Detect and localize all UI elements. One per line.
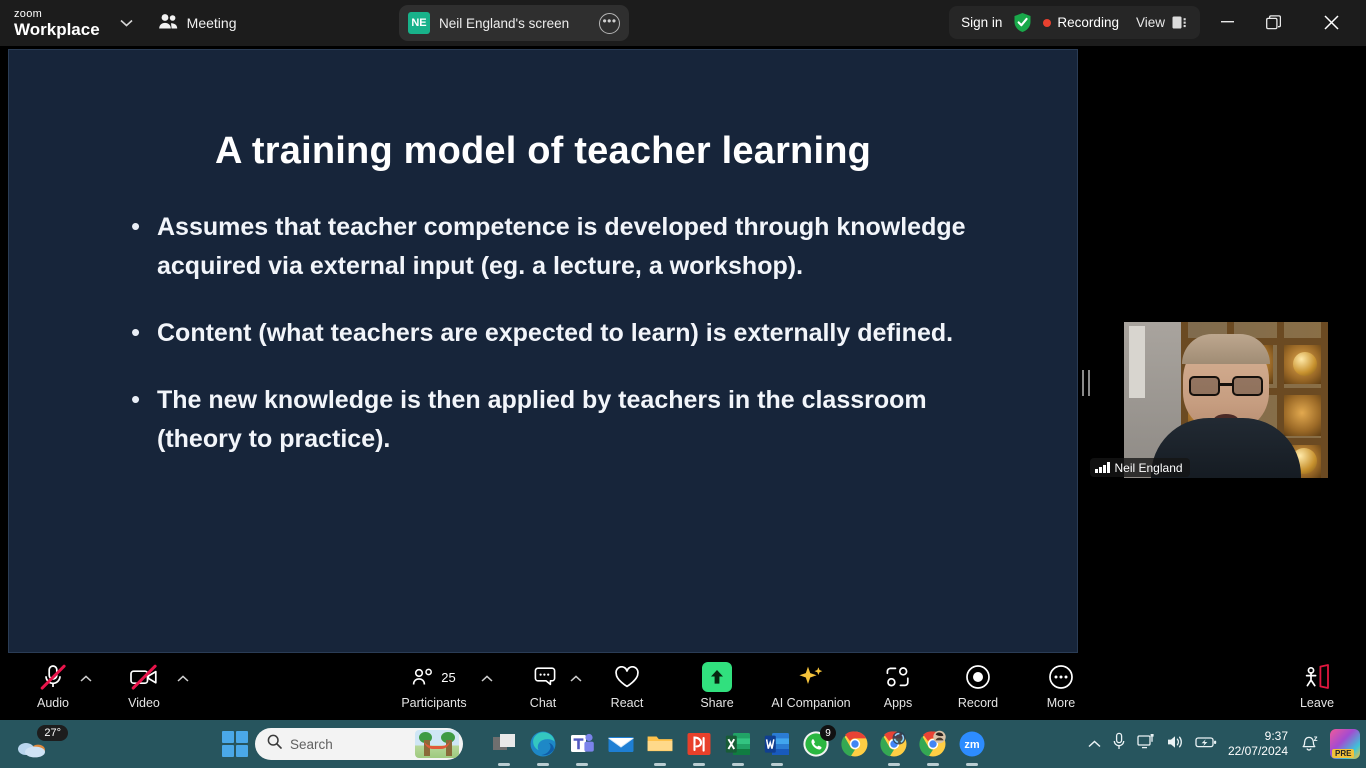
- participants-options-caret-icon[interactable]: [481, 674, 493, 685]
- recording-indicator[interactable]: Recording: [1043, 15, 1119, 30]
- svg-text:z: z: [1314, 734, 1318, 743]
- toolbar-record-label: Record: [958, 696, 998, 710]
- view-button[interactable]: View: [1136, 15, 1188, 30]
- people-icon: [158, 13, 179, 33]
- titlebar-right-group: Sign in Recording View: [949, 6, 1200, 39]
- toolbar-apps-label: Apps: [884, 696, 913, 710]
- minimize-button[interactable]: [1204, 0, 1250, 44]
- taskbar-app-icons: 9: [489, 720, 987, 768]
- camera-muted-icon: [130, 662, 158, 692]
- toolbar-react-label: React: [611, 696, 644, 710]
- toolbar-chat-label: Chat: [530, 696, 556, 710]
- participant-name: Neil England: [1115, 461, 1183, 475]
- search-icon: [267, 734, 282, 754]
- notification-dnd-icon[interactable]: z: [1299, 732, 1319, 757]
- view-label: View: [1136, 15, 1165, 30]
- slide-bullet-list: • Assumes that teacher competence is dev…: [131, 208, 1011, 487]
- toolbar-video-label: Video: [128, 696, 160, 710]
- zoom-icon[interactable]: zm: [957, 729, 987, 759]
- system-tray: 9:37 22/07/2024 z PRE: [1088, 720, 1360, 768]
- maximize-button[interactable]: [1250, 0, 1296, 44]
- bullet-text: Assumes that teacher competence is devel…: [157, 208, 1011, 286]
- logo-workplace-text: Workplace: [14, 21, 100, 38]
- chrome-loading-icon[interactable]: [879, 729, 909, 759]
- participant-video-tile[interactable]: [1124, 322, 1328, 478]
- chat-options-caret-icon[interactable]: [570, 674, 582, 685]
- toolbar-participants-button[interactable]: 25 Participants: [397, 662, 471, 710]
- recording-label: Recording: [1057, 15, 1119, 30]
- ai-sparkle-icon: [796, 662, 826, 692]
- toolbar-video-button[interactable]: Video: [107, 662, 181, 710]
- list-item: • The new knowledge is then applied by t…: [131, 381, 1011, 459]
- toolbar-chat-button[interactable]: Chat: [506, 662, 580, 710]
- file-explorer-icon[interactable]: [645, 729, 675, 759]
- share-screen-icon: [702, 662, 732, 692]
- logo-zoom-text: zoom: [14, 9, 100, 20]
- cloud-icon: [16, 741, 48, 758]
- toolbar-react-button[interactable]: React: [590, 662, 664, 710]
- layout-icon: [1172, 16, 1188, 29]
- toolbar-record-button[interactable]: Record: [941, 662, 1015, 710]
- mail-icon[interactable]: [606, 729, 636, 759]
- share-source-label: Neil England's screen: [439, 16, 590, 31]
- task-view-icon[interactable]: [489, 729, 519, 759]
- toolbar-participants-label: Participants: [401, 696, 466, 710]
- more-ellipsis-icon[interactable]: •••: [599, 13, 620, 34]
- word-icon[interactable]: [762, 729, 792, 759]
- zoom-toolbar: Audio Video: [0, 654, 1366, 720]
- whatsapp-icon[interactable]: 9: [801, 729, 831, 759]
- excel-icon[interactable]: [723, 729, 753, 759]
- toolbar-leave-label: Leave: [1300, 696, 1334, 710]
- zoom-title-bar: zoom Workplace Meeting NE Neil England's…: [0, 0, 1366, 46]
- bullet-dot-icon: •: [131, 381, 143, 459]
- svg-text:zm: zm: [964, 739, 980, 751]
- chat-bubble-icon: [530, 662, 556, 692]
- heart-icon: [614, 662, 640, 692]
- toolbar-ai-companion-label: AI Companion: [771, 696, 850, 710]
- shield-check-icon[interactable]: [1013, 12, 1032, 33]
- panel-resize-handle[interactable]: [1082, 370, 1090, 396]
- toolbar-leave-button[interactable]: Leave: [1280, 662, 1354, 710]
- weather-widget[interactable]: 27°: [8, 724, 72, 764]
- bullet-text: The new knowledge is then applied by tea…: [157, 381, 1011, 459]
- clock-time: 9:37: [1228, 729, 1288, 744]
- audio-options-caret-icon[interactable]: [80, 674, 92, 685]
- taskbar-clock[interactable]: 9:37 22/07/2024: [1228, 729, 1288, 759]
- network-icon[interactable]: [1137, 733, 1155, 755]
- toolbar-more-button[interactable]: More: [1024, 662, 1098, 710]
- weather-temperature: 27°: [37, 725, 68, 741]
- toolbar-audio-label: Audio: [37, 696, 69, 710]
- toolbar-apps-button[interactable]: Apps: [861, 662, 935, 710]
- meeting-tab-label: Meeting: [187, 15, 237, 31]
- bullet-dot-icon: •: [131, 314, 143, 353]
- microphone-icon[interactable]: [1112, 732, 1126, 756]
- toolbar-share-label: Share: [700, 696, 733, 710]
- search-placeholder: Search: [290, 737, 407, 752]
- toolbar-audio-button[interactable]: Audio: [16, 662, 90, 710]
- screen-share-indicator[interactable]: NE Neil England's screen •••: [399, 5, 629, 41]
- windows-taskbar: 27° Search: [0, 720, 1366, 768]
- leave-door-icon: [1302, 662, 1332, 692]
- participants-icon: 25: [412, 662, 455, 692]
- toolbar-share-button[interactable]: Share: [680, 662, 754, 710]
- search-input[interactable]: Search: [255, 728, 463, 760]
- clock-date: 22/07/2024: [1228, 744, 1288, 759]
- edge-icon[interactable]: [528, 729, 558, 759]
- battery-icon[interactable]: [1195, 735, 1217, 754]
- chrome-profile-icon[interactable]: [918, 729, 948, 759]
- bullet-text: Content (what teachers are expected to l…: [157, 314, 953, 353]
- list-item: • Assumes that teacher competence is dev…: [131, 208, 1011, 286]
- video-options-caret-icon[interactable]: [177, 674, 189, 685]
- notification-badge: 9: [820, 725, 836, 741]
- chrome-icon[interactable]: [840, 729, 870, 759]
- more-ellipsis-icon: [1048, 662, 1074, 692]
- teams-icon[interactable]: [567, 729, 597, 759]
- bullet-dot-icon: •: [131, 208, 143, 286]
- toolbar-more-label: More: [1047, 696, 1075, 710]
- signal-bars-icon: [1095, 462, 1110, 473]
- zoom-meeting-window: zoom Workplace Meeting NE Neil England's…: [0, 0, 1366, 768]
- windows-start-icon[interactable]: [221, 730, 249, 758]
- avatar: NE: [408, 12, 430, 34]
- pdf-app-icon[interactable]: [684, 729, 714, 759]
- zoom-workplace-logo: zoom Workplace: [14, 9, 100, 38]
- slide-title: A training model of teacher learning: [9, 130, 1077, 173]
- taskbar-center-group: Search: [221, 720, 463, 768]
- copilot-icon[interactable]: PRE: [1330, 729, 1360, 759]
- copilot-badge: PRE: [1332, 749, 1354, 758]
- chevron-up-icon[interactable]: [1088, 735, 1101, 753]
- hammock-trees-image: [415, 730, 459, 758]
- video-feed: [1124, 322, 1328, 478]
- chevron-down-icon[interactable]: [114, 10, 140, 36]
- volume-icon[interactable]: [1166, 734, 1184, 755]
- close-button[interactable]: [1308, 0, 1354, 44]
- meeting-tab[interactable]: Meeting: [158, 13, 237, 33]
- apps-icon: [885, 662, 911, 692]
- video-name-label: Neil England: [1090, 458, 1190, 477]
- list-item: • Content (what teachers are expected to…: [131, 314, 1011, 353]
- record-icon: [965, 662, 991, 692]
- microphone-muted-icon: [42, 662, 64, 692]
- shared-screen-content[interactable]: A training model of teacher learning • A…: [8, 49, 1078, 653]
- sign-in-button[interactable]: Sign in: [961, 15, 1002, 30]
- participants-count: 25: [441, 670, 455, 685]
- recording-dot-icon: [1043, 19, 1051, 27]
- meeting-stage: A training model of teacher learning • A…: [0, 46, 1366, 654]
- toolbar-ai-companion-button[interactable]: AI Companion: [774, 662, 848, 710]
